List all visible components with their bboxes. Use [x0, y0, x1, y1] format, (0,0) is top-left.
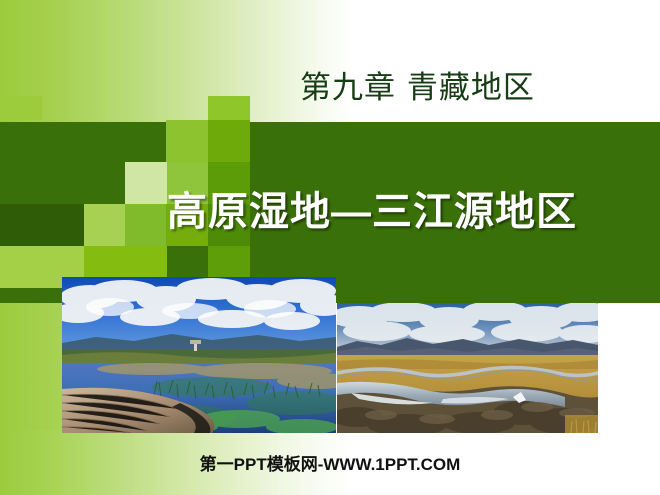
page-title: 高原湿地—三江源地区: [167, 179, 577, 237]
footer-watermark: 第一PPT模板网-WWW.1PPT.COM: [0, 450, 660, 475]
presentation-slide: 第九章 青藏地区 高原湿地—三江源地区: [0, 0, 660, 495]
mosaic-square: [0, 204, 42, 246]
mosaic-square: [125, 162, 167, 204]
mosaic-square: [42, 204, 84, 246]
chapter-title: 第九章 青藏地区: [300, 62, 600, 107]
mosaic-square: [208, 96, 250, 120]
mosaic-square: [84, 204, 126, 246]
photo-wetland-boardwalk: [62, 277, 336, 433]
photo-plateau-river: [337, 303, 598, 433]
mosaic-square: [166, 120, 208, 162]
mosaic-square: [125, 204, 167, 246]
mosaic-square: [208, 120, 250, 162]
mosaic-square: [0, 246, 42, 288]
mosaic-square: [0, 96, 42, 120]
